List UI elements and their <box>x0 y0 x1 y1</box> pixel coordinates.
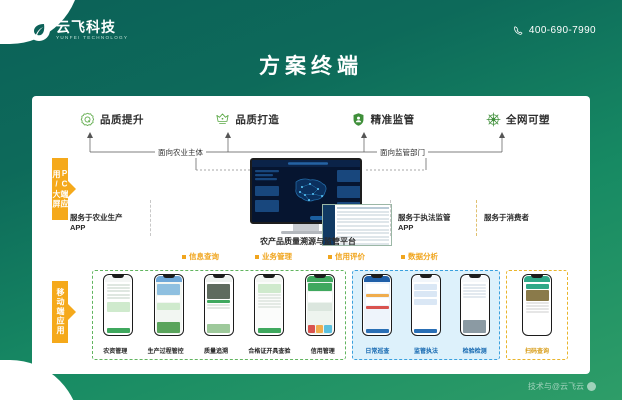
phone-label: 日常巡查 <box>365 346 389 355</box>
phone-mockup[interactable] <box>204 274 234 336</box>
side-label-agri-production: 服务于农业生产 APP <box>70 213 142 233</box>
network-compass-icon <box>486 112 501 127</box>
brand-logo[interactable]: 云飞科技 YUNFEI TECHNOLOGY <box>28 19 128 41</box>
phone-group-yellow: 扫码查询 <box>506 270 568 360</box>
phone-mockup[interactable] <box>305 274 335 336</box>
platform-tag-label: 信息查询 <box>189 251 219 262</box>
phone-notch <box>163 275 175 278</box>
phone-label: 信用管理 <box>311 346 335 355</box>
phone-list-green <box>93 274 345 336</box>
phone-notch <box>314 275 326 278</box>
phone-list-yellow <box>507 274 567 336</box>
divider-right <box>390 200 391 236</box>
phone-notch <box>420 275 432 278</box>
bullet-square-icon <box>328 255 332 259</box>
phone-icon <box>513 25 524 36</box>
phone-notch <box>531 275 543 278</box>
phone-group-green: 农资管理 生产过程管控 质量追溯 合格证开具查验 信用管理 <box>92 270 346 360</box>
bullet-square-icon <box>255 255 259 259</box>
quality-gear-icon <box>80 112 95 127</box>
monitor-stand <box>293 224 319 231</box>
phone-mockup[interactable] <box>522 274 552 336</box>
contact-phone[interactable]: 400-690-7990 <box>513 25 596 36</box>
phone-mockup[interactable] <box>460 274 490 336</box>
divider-left <box>150 200 151 236</box>
phone-mockup[interactable] <box>254 274 284 336</box>
phone-mockup[interactable] <box>411 274 441 336</box>
phone-number: 400-690-7990 <box>529 25 596 36</box>
bullet-square-icon <box>401 255 405 259</box>
phone-notch <box>213 275 225 278</box>
feature-label: 品质提升 <box>100 112 144 127</box>
bullet-square-icon <box>182 255 186 259</box>
platform-tag[interactable]: 信息查询 <box>182 251 219 262</box>
phone-label: 生产过程管控 <box>148 346 184 355</box>
feature-item-network-plastic[interactable]: 全网可塑 <box>486 112 550 127</box>
vertical-tag-mobile[interactable]: 移动端应用 <box>52 281 68 343</box>
platform-tag-row: 信息查询 业务管理 信用评价 数据分析 <box>182 251 438 262</box>
branch-label-right: 面向监管部门 <box>377 147 428 158</box>
phone-label: 农资管理 <box>103 346 127 355</box>
feature-label: 品质打造 <box>235 112 279 127</box>
feature-item-quality-improve[interactable]: 品质提升 <box>80 112 144 127</box>
logo-text-cn: 云飞科技 <box>56 20 128 34</box>
phone-labels-green: 农资管理 生产过程管控 质量追溯 合格证开具查验 信用管理 <box>93 346 345 355</box>
feature-label: 精准监管 <box>371 112 415 127</box>
page-title: 方案终端 <box>0 50 622 80</box>
phone-notch <box>112 275 124 278</box>
phone-label: 合格证开具查验 <box>248 346 290 355</box>
phone-notch <box>469 275 481 278</box>
feature-row: 品质提升 品质打造 精准监管 <box>80 106 550 132</box>
platform-tag[interactable]: 信用评价 <box>328 251 365 262</box>
platform-title: 农产品质量溯源与监管平台 <box>228 236 388 247</box>
phone-label: 监管执法 <box>414 346 438 355</box>
side-label-consumer: 服务于消费者 <box>484 213 554 223</box>
shield-check-icon <box>351 112 366 127</box>
watermark-text: 技术与@云飞云 <box>528 381 584 392</box>
phone-notch <box>371 275 383 278</box>
feature-item-quality-build[interactable]: 品质打造 <box>215 112 279 127</box>
platform-tag-label: 业务管理 <box>262 251 292 262</box>
crown-shield-icon <box>215 112 230 127</box>
platform-tag-label: 数据分析 <box>408 251 438 262</box>
vertical-tag-pc[interactable]: PC端应用/大屏 <box>52 158 68 220</box>
feature-item-precise-supervision[interactable]: 精准监管 <box>351 112 415 127</box>
leaf-icon <box>28 19 50 41</box>
branch-label-left: 面向农业主体 <box>155 147 206 158</box>
phone-mockup[interactable] <box>103 274 133 336</box>
platform-tag-label: 信用评价 <box>335 251 365 262</box>
phone-mockup[interactable] <box>154 274 184 336</box>
slide-root: 云飞科技 YUNFEI TECHNOLOGY 400-690-7990 方案终端 <box>0 0 622 400</box>
watermark: 技术与@云飞云 <box>528 381 596 392</box>
platform-tag[interactable]: 数据分析 <box>401 251 438 262</box>
phone-label: 扫码查询 <box>525 346 549 355</box>
phone-labels-blue: 日常巡查 监管执法 检验检测 <box>353 346 499 355</box>
phone-list-blue <box>353 274 499 336</box>
side-label-enforcement: 服务于执法监管 APP <box>398 213 472 233</box>
phone-label: 质量追溯 <box>204 346 228 355</box>
phone-label: 检验检测 <box>463 346 487 355</box>
phone-mockup[interactable] <box>362 274 392 336</box>
divider-far-right <box>476 200 477 236</box>
phone-labels-yellow: 扫码查询 <box>507 346 567 355</box>
platform-tag[interactable]: 业务管理 <box>255 251 292 262</box>
phone-notch <box>263 275 275 278</box>
page-header: 云飞科技 YUNFEI TECHNOLOGY 400-690-7990 <box>0 0 622 48</box>
feature-label: 全网可塑 <box>506 112 550 127</box>
logo-text-en: YUNFEI TECHNOLOGY <box>56 36 128 41</box>
leaf-icon <box>587 382 596 391</box>
phone-group-blue: 日常巡查 监管执法 检验检测 <box>352 270 500 360</box>
